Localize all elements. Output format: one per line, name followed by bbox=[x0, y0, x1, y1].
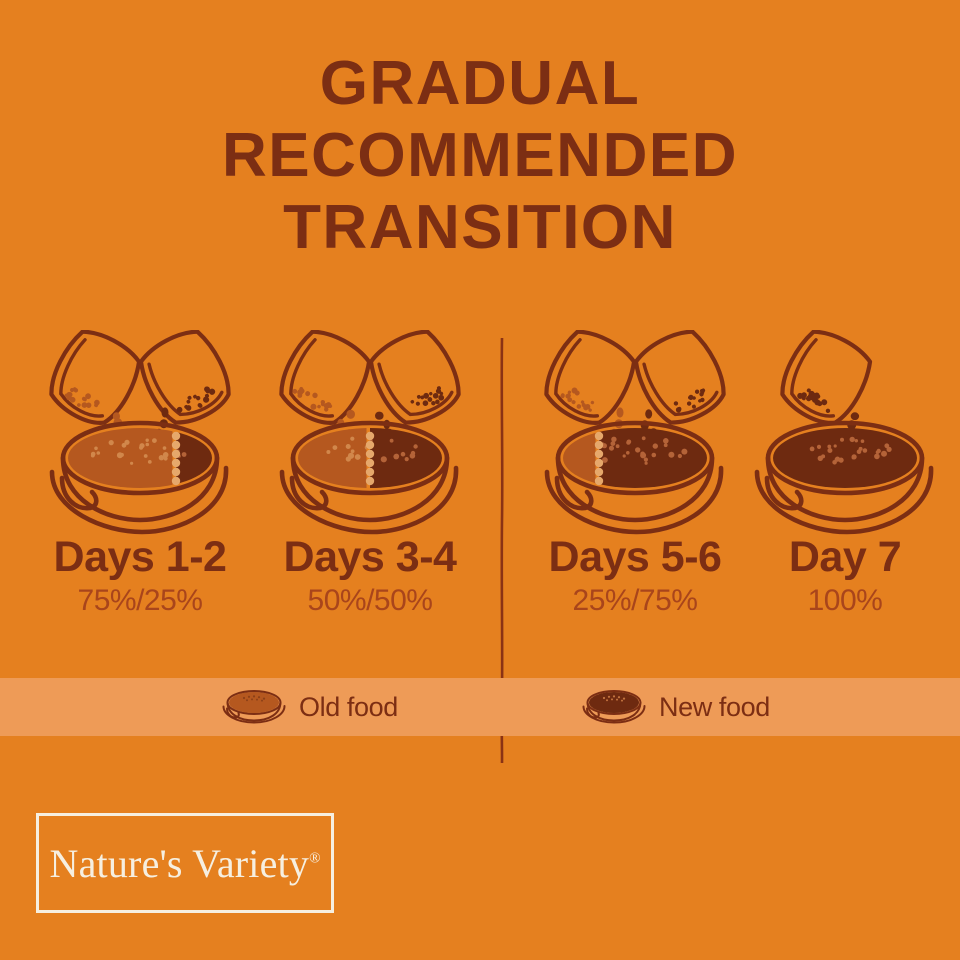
step-day-label: Day 7 bbox=[745, 534, 945, 580]
step-group: Days 5-6 25%/75% bbox=[515, 330, 755, 618]
brand-name: Nature's Variety® bbox=[50, 840, 321, 887]
step-percent-label: 100% bbox=[745, 584, 945, 618]
step-group: Days 1-2 75%/25% bbox=[20, 330, 260, 618]
bowl-and-cups-illustration bbox=[20, 330, 260, 535]
step-percent-label: 50%/50% bbox=[250, 584, 490, 618]
bowl-old-food-icon bbox=[218, 687, 290, 727]
food-bowl bbox=[757, 423, 931, 532]
brand-name-text: Nature's Variety bbox=[50, 841, 310, 886]
food-bowl bbox=[282, 423, 456, 532]
legend-band: Old food New food bbox=[0, 678, 960, 736]
legend-new-food-label: New food bbox=[659, 692, 770, 723]
new-food-fill bbox=[773, 428, 917, 488]
measuring-cup bbox=[536, 330, 642, 433]
measuring-cup bbox=[772, 330, 878, 433]
title-line-2: RECOMMENDED bbox=[0, 120, 960, 192]
measuring-cup bbox=[628, 330, 734, 433]
bowl-new-food-icon bbox=[578, 687, 650, 727]
bowl-and-cups-illustration bbox=[745, 330, 945, 535]
measuring-cup bbox=[41, 330, 147, 433]
transition-stage: Days 1-2 75%/25% bbox=[0, 330, 960, 660]
measuring-cup bbox=[271, 330, 377, 433]
bowl-and-cups-illustration bbox=[515, 330, 755, 535]
legend-old-food-label: Old food bbox=[299, 692, 398, 723]
registered-mark: ® bbox=[309, 850, 320, 866]
brand-logo-inner: Nature's Variety® bbox=[39, 816, 331, 910]
legend-item-old-food: Old food bbox=[218, 678, 398, 736]
infographic-poster: GRADUAL RECOMMENDED TRANSITION bbox=[0, 0, 960, 960]
step-illustration bbox=[515, 330, 755, 530]
title-line-3: TRANSITION bbox=[0, 192, 960, 264]
step-day-label: Days 1-2 bbox=[20, 534, 260, 580]
step-group: Day 7 100% bbox=[745, 330, 945, 618]
step-day-label: Days 3-4 bbox=[250, 534, 490, 580]
step-illustration bbox=[745, 330, 945, 530]
measuring-cup bbox=[133, 330, 239, 433]
step-illustration bbox=[20, 330, 260, 530]
step-percent-label: 75%/25% bbox=[20, 584, 260, 618]
step-day-label: Days 5-6 bbox=[515, 534, 755, 580]
legend-item-new-food: New food bbox=[578, 678, 770, 736]
brand-logo: Nature's Variety® bbox=[36, 813, 334, 913]
title-line-1: GRADUAL bbox=[0, 48, 960, 120]
food-bowl bbox=[547, 423, 721, 532]
bowl-and-cups-illustration bbox=[250, 330, 490, 535]
food-bowl bbox=[52, 423, 226, 532]
page-title: GRADUAL RECOMMENDED TRANSITION bbox=[0, 48, 960, 264]
step-percent-label: 25%/75% bbox=[515, 584, 755, 618]
step-group: Days 3-4 50%/50% bbox=[250, 330, 490, 618]
step-illustration bbox=[250, 330, 490, 530]
